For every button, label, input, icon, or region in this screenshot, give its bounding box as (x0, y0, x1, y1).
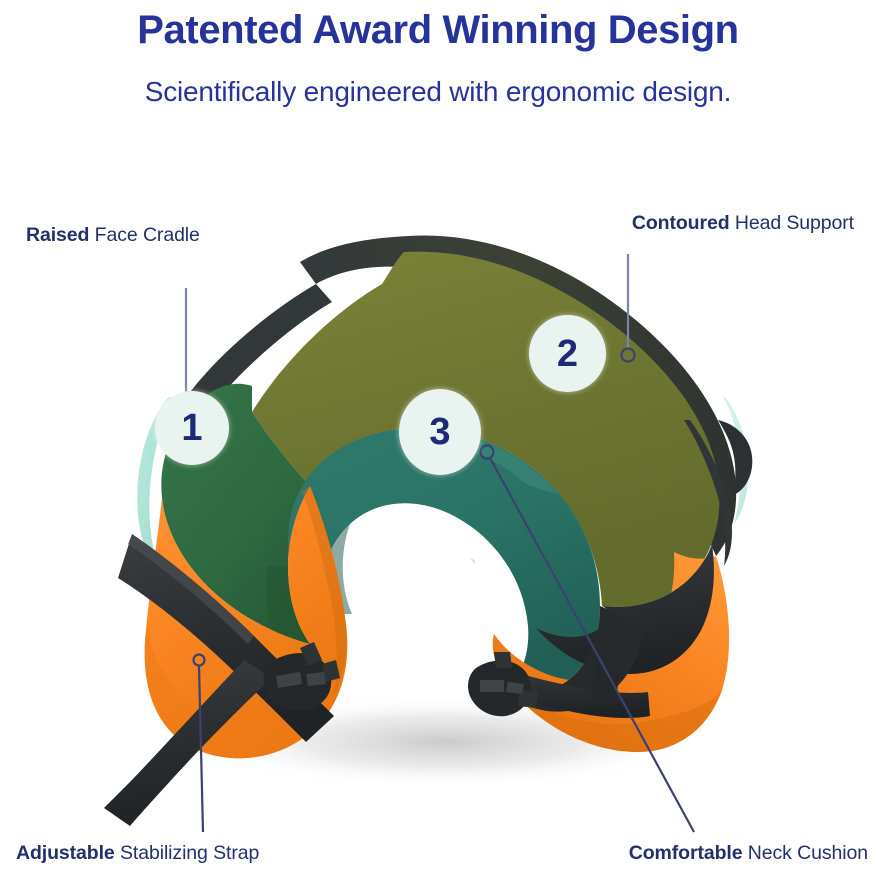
callout-label-raised-face-cradle-rest: Face Cradle (89, 224, 199, 246)
callout-label-contoured-head-support-bold: Contoured (632, 212, 730, 234)
callout-label-adjustable-stabilizing-strap-rest: Stabilizing Strap (115, 842, 260, 864)
callout-label-adjustable-stabilizing-strap: Adjustable Stabilizing Strap (16, 844, 259, 864)
cradle-opening (349, 530, 499, 677)
callout-badge-1-number: 1 (181, 409, 202, 447)
callout-badge-2[interactable]: 2 (529, 315, 606, 392)
callout-badge-1[interactable]: 1 (155, 391, 229, 465)
callout-label-comfortable-neck-cushion-rest: Neck Cushion (742, 842, 868, 864)
callout-label-comfortable-neck-cushion-bold: Comfortable (629, 842, 743, 864)
product-infographic: Patented Award Winning Design Scientific… (0, 0, 876, 870)
callout-label-contoured-head-support-rest: Head Support (730, 212, 854, 234)
callout-label-comfortable-neck-cushion: Comfortable Neck Cushion (629, 844, 868, 864)
callout-label-contoured-head-support: Contoured Head Support (632, 214, 854, 234)
callout-badge-3[interactable]: 3 (399, 389, 481, 475)
callout-badge-2-number: 2 (557, 335, 578, 373)
callout-label-adjustable-stabilizing-strap-bold: Adjustable (16, 842, 115, 864)
callout-label-raised-face-cradle: Raised Face Cradle (26, 226, 200, 246)
callout-badge-3-number: 3 (429, 413, 450, 451)
callout-label-raised-face-cradle-bold: Raised (26, 224, 89, 246)
